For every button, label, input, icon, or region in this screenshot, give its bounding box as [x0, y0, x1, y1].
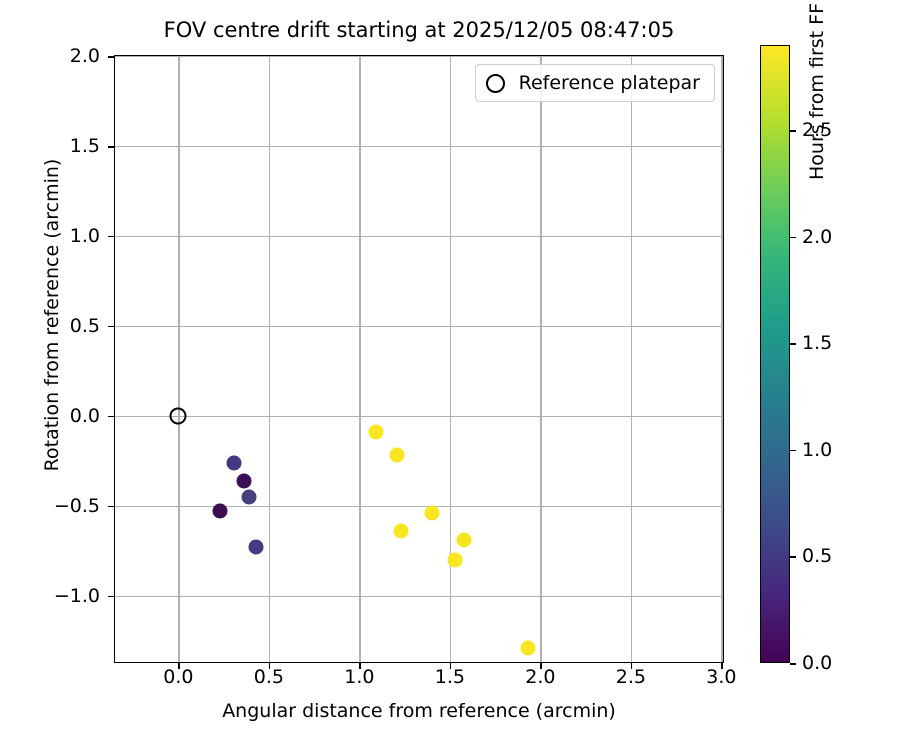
y-tick-label: 1.0: [70, 225, 100, 247]
gridline-horizontal: [115, 416, 723, 417]
scatter-point: [424, 505, 439, 520]
colorbar-tick: [790, 556, 796, 558]
colorbar-tick: [790, 130, 796, 132]
y-tick: [108, 506, 115, 508]
gridline-horizontal: [115, 56, 723, 57]
y-tick: [108, 56, 115, 58]
colorbar-tick-label: 1.0: [802, 439, 832, 461]
colorbar-tick: [790, 237, 796, 239]
legend-item-label: Reference platepar: [519, 72, 700, 94]
reference-platepar-point: [170, 407, 187, 424]
legend: Reference platepar: [475, 64, 715, 102]
y-tick: [108, 146, 115, 148]
gridline-horizontal: [115, 146, 723, 147]
y-tick: [108, 326, 115, 328]
gridline-horizontal: [115, 236, 723, 237]
scatter-point: [368, 424, 383, 439]
scatter-point: [457, 532, 472, 547]
scatter-point: [390, 448, 405, 463]
scatter-point: [520, 640, 535, 655]
reference-platepar-marker-icon: [486, 74, 505, 93]
gridline-horizontal: [115, 326, 723, 327]
y-tick-label: 0.5: [70, 315, 100, 337]
scatter-point: [448, 552, 463, 567]
y-tick-label: 0.0: [70, 405, 100, 427]
x-tick-label: 2.5: [616, 666, 646, 688]
gridline-horizontal: [115, 596, 723, 597]
colorbar-tick: [790, 450, 796, 452]
scatter-point: [393, 523, 408, 538]
y-tick: [108, 416, 115, 418]
plot-area: 0.00.51.01.52.02.53.0 −1.0−0.50.00.51.01…: [114, 55, 724, 663]
colorbar-label: Hours from first FF file: [806, 0, 828, 354]
x-tick-label: 0.5: [254, 666, 284, 688]
x-tick-label: 2.0: [525, 666, 555, 688]
colorbar: 0.00.51.01.52.02.5: [760, 45, 790, 663]
x-tick-label: 0.0: [163, 666, 193, 688]
x-tick-label: 3.0: [706, 666, 736, 688]
scatter-point: [241, 489, 256, 504]
colorbar-tick-label: 0.5: [802, 545, 832, 567]
x-tick-label: 1.5: [435, 666, 465, 688]
y-tick: [108, 596, 115, 598]
figure-canvas: FOV centre drift starting at 2025/12/05 …: [0, 0, 900, 750]
colorbar-gradient: [760, 45, 790, 663]
scatter-point: [236, 473, 251, 488]
colorbar-tick: [790, 343, 796, 345]
gridline-horizontal: [115, 506, 723, 507]
page-title: FOV centre drift starting at 2025/12/05 …: [114, 18, 724, 42]
scatter-point: [227, 455, 242, 470]
scatter-point: [212, 504, 227, 519]
colorbar-tick: [790, 663, 796, 665]
scatter-point: [249, 540, 264, 555]
x-axis-label: Angular distance from reference (arcmin): [114, 700, 724, 722]
y-tick-label: 1.5: [70, 135, 100, 157]
y-axis-label: Rotation from reference (arcmin): [41, 11, 63, 619]
x-tick-label: 1.0: [344, 666, 374, 688]
y-tick: [108, 236, 115, 238]
colorbar-tick-label: 0.0: [802, 652, 832, 674]
y-tick-label: 2.0: [70, 45, 100, 67]
